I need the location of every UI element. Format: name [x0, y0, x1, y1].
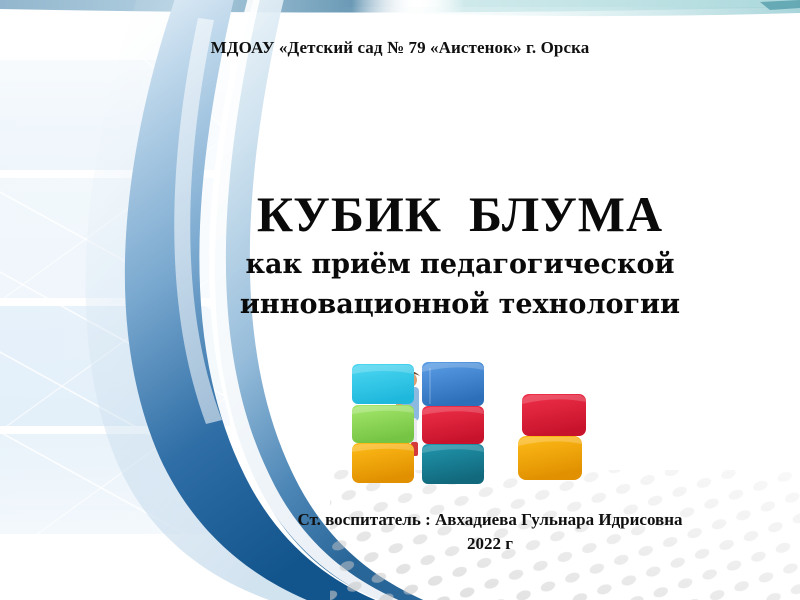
cube-red-middle [422, 406, 484, 444]
title-block: КУБИК БЛУМА как приём педагогической инн… [150, 186, 770, 322]
cube-orange-right [518, 436, 582, 480]
cube-cyan [352, 364, 414, 404]
cube-red-right [522, 394, 586, 436]
year-label: 2022 г [180, 532, 800, 556]
organization-name: МДОАУ «Детский сад № 79 «Аистенок» г. Ор… [0, 38, 800, 58]
author-name: Ст. воспитатель : Авхадиева Гульнара Идр… [180, 508, 800, 532]
author-block: Ст. воспитатель : Авхадиева Гульнара Идр… [180, 508, 800, 556]
cube-teal [422, 444, 484, 484]
subtitle-line-2: инновационной технологии [150, 288, 770, 322]
cube-green [352, 405, 414, 443]
subtitle-line-1: как приём педагогической [150, 248, 770, 282]
cube-blue [422, 362, 484, 406]
soft-play-cubes-photo [338, 360, 600, 490]
cube-orange-left [352, 443, 414, 483]
cubes-illustration [338, 360, 600, 490]
presentation-slide: МДОАУ «Детский сад № 79 «Аистенок» г. Ор… [0, 0, 800, 600]
page-title: КУБИК БЛУМА [150, 186, 770, 242]
